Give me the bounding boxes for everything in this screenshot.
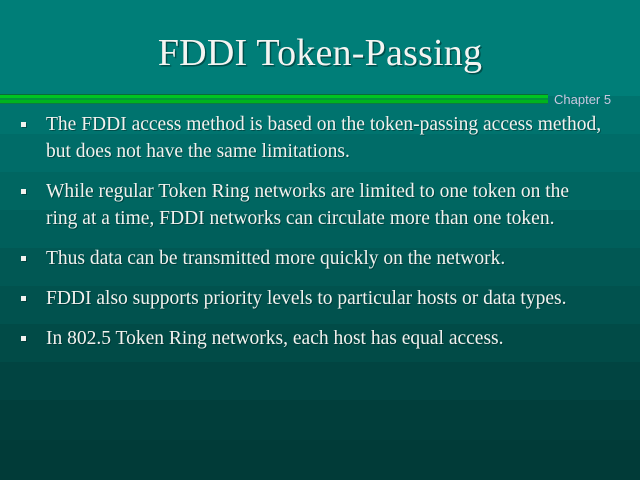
bullet-item: The FDDI access method is based on the t… [0, 111, 640, 165]
presentation-slide: FDDI Token-Passing Chapter 5 The FDDI ac… [0, 0, 640, 480]
square-bullet-icon [21, 189, 26, 194]
square-bullet-icon [21, 336, 26, 341]
bullet-text: Thus data can be transmitted more quickl… [46, 245, 602, 272]
square-bullet-icon [21, 256, 26, 261]
bullet-text: FDDI also supports priority levels to pa… [46, 285, 602, 312]
title-divider-bar [0, 94, 548, 104]
square-bullet-icon [21, 122, 26, 127]
bullet-item: Thus data can be transmitted more quickl… [0, 245, 640, 272]
slide-body: The FDDI access method is based on the t… [0, 111, 640, 365]
bullet-text: The FDDI access method is based on the t… [46, 111, 602, 165]
bullet-item: While regular Token Ring networks are li… [0, 178, 640, 232]
bullet-item: FDDI also supports priority levels to pa… [0, 285, 640, 312]
bullet-text: While regular Token Ring networks are li… [46, 178, 602, 232]
square-bullet-icon [21, 296, 26, 301]
divider-band-dark-bottom [0, 103, 548, 104]
bullet-text: In 802.5 Token Ring networks, each host … [46, 325, 602, 352]
chapter-label: Chapter 5 [554, 92, 611, 108]
bullet-item: In 802.5 Token Ring networks, each host … [0, 325, 640, 352]
slide-title: FDDI Token-Passing [0, 30, 640, 76]
